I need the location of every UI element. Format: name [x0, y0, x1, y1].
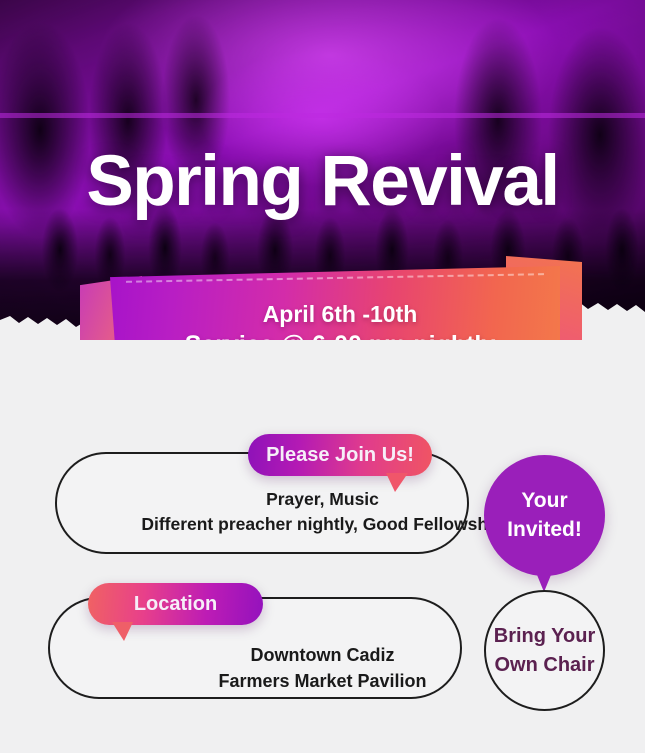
please-join-us-badge: Please Join Us! — [248, 434, 432, 476]
chair-line-1: Bring Your — [494, 622, 595, 650]
bring-your-own-chair-circle: Bring Your Own Chair — [484, 590, 605, 711]
chair-line-2: Own Chair — [494, 651, 594, 679]
ribbon-dates: April 6th -10th — [120, 300, 560, 329]
your-invited-line-2: Invited! — [507, 516, 582, 545]
please-join-us-badge-tail — [386, 473, 408, 492]
location-badge-tail — [112, 622, 133, 641]
your-invited-circle-tail — [535, 570, 553, 592]
poster-canvas: Spring Revival April 6th -10th Service @… — [0, 0, 645, 753]
your-invited-circle: Your Invited! — [484, 455, 605, 576]
your-invited-line-1: Your — [521, 487, 567, 516]
page-title: Spring Revival — [0, 146, 645, 217]
location-badge: Location — [88, 583, 263, 625]
